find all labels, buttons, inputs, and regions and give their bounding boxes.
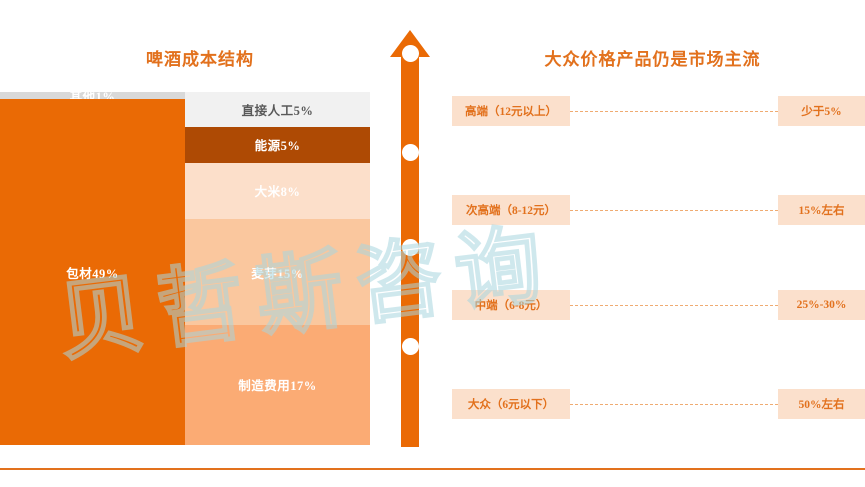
price-tier-row[interactable]: 高端（12元以上）少于5% <box>440 96 865 126</box>
price-tier-share: 少于5% <box>778 96 865 126</box>
arrow-milestone-dot <box>402 45 419 62</box>
left-chart-title: 啤酒成本结构 <box>0 45 400 70</box>
cost-segment-label: 直接人工5% <box>242 100 314 119</box>
price-tier-row[interactable]: 中端（6-8元）25%-30% <box>440 290 865 320</box>
price-tier-label: 高端（12元以上） <box>452 96 570 126</box>
cost-column-left: 其他1%包材49% <box>0 92 185 445</box>
tier-connector-line <box>570 404 778 405</box>
tier-connector-line <box>570 305 778 306</box>
price-tier-label: 中端（6-8元） <box>452 290 570 320</box>
arrow-milestone-dot <box>402 239 419 256</box>
price-tier-label: 次高端（8-12元） <box>452 195 570 225</box>
cost-segment: 大米8% <box>185 163 370 219</box>
up-arrow-icon <box>389 30 431 447</box>
cost-segment: 包材49% <box>0 99 185 445</box>
tier-connector-line <box>570 210 778 211</box>
cost-segment-label: 大米8% <box>255 181 301 200</box>
footer-divider <box>0 468 865 470</box>
price-tier-share: 25%-30% <box>778 290 865 320</box>
price-tier-share: 15%左右 <box>778 195 865 225</box>
cost-segment-label: 包材49% <box>66 263 119 282</box>
cost-segment: 麦芽15% <box>185 219 370 325</box>
right-chart-title: 大众价格产品仍是市场主流 <box>440 45 865 70</box>
cost-segment: 直接人工5% <box>185 92 370 127</box>
price-tier-share: 50%左右 <box>778 389 865 419</box>
price-tier-label: 大众（6元以下） <box>452 389 570 419</box>
price-tier-list: 高端（12元以上）少于5%次高端（8-12元）15%左右中端（6-8元）25%-… <box>440 84 865 434</box>
cost-segment: 能源5% <box>185 127 370 162</box>
beer-cost-structure-chart: 其他1%包材49% 直接人工5%能源5%大米8%麦芽15%制造费用17% <box>0 92 370 445</box>
tier-connector-line <box>570 111 778 112</box>
cost-segment-label: 能源5% <box>255 135 301 154</box>
cost-column-right: 直接人工5%能源5%大米8%麦芽15%制造费用17% <box>185 92 370 445</box>
price-tier-row[interactable]: 次高端（8-12元）15%左右 <box>440 195 865 225</box>
arrow-milestone-dot <box>402 144 419 161</box>
arrow-milestone-dot <box>402 338 419 355</box>
cost-segment: 其他1% <box>0 92 185 99</box>
price-tier-row[interactable]: 大众（6元以下）50%左右 <box>440 389 865 419</box>
cost-segment-label: 制造费用17% <box>238 375 317 394</box>
cost-segment-label: 麦芽15% <box>251 263 304 282</box>
cost-segment: 制造费用17% <box>185 325 370 445</box>
slide-canvas: 贝哲斯咨询 啤酒成本结构 大众价格产品仍是市场主流 其他1%包材49% 直接人工… <box>0 0 865 487</box>
